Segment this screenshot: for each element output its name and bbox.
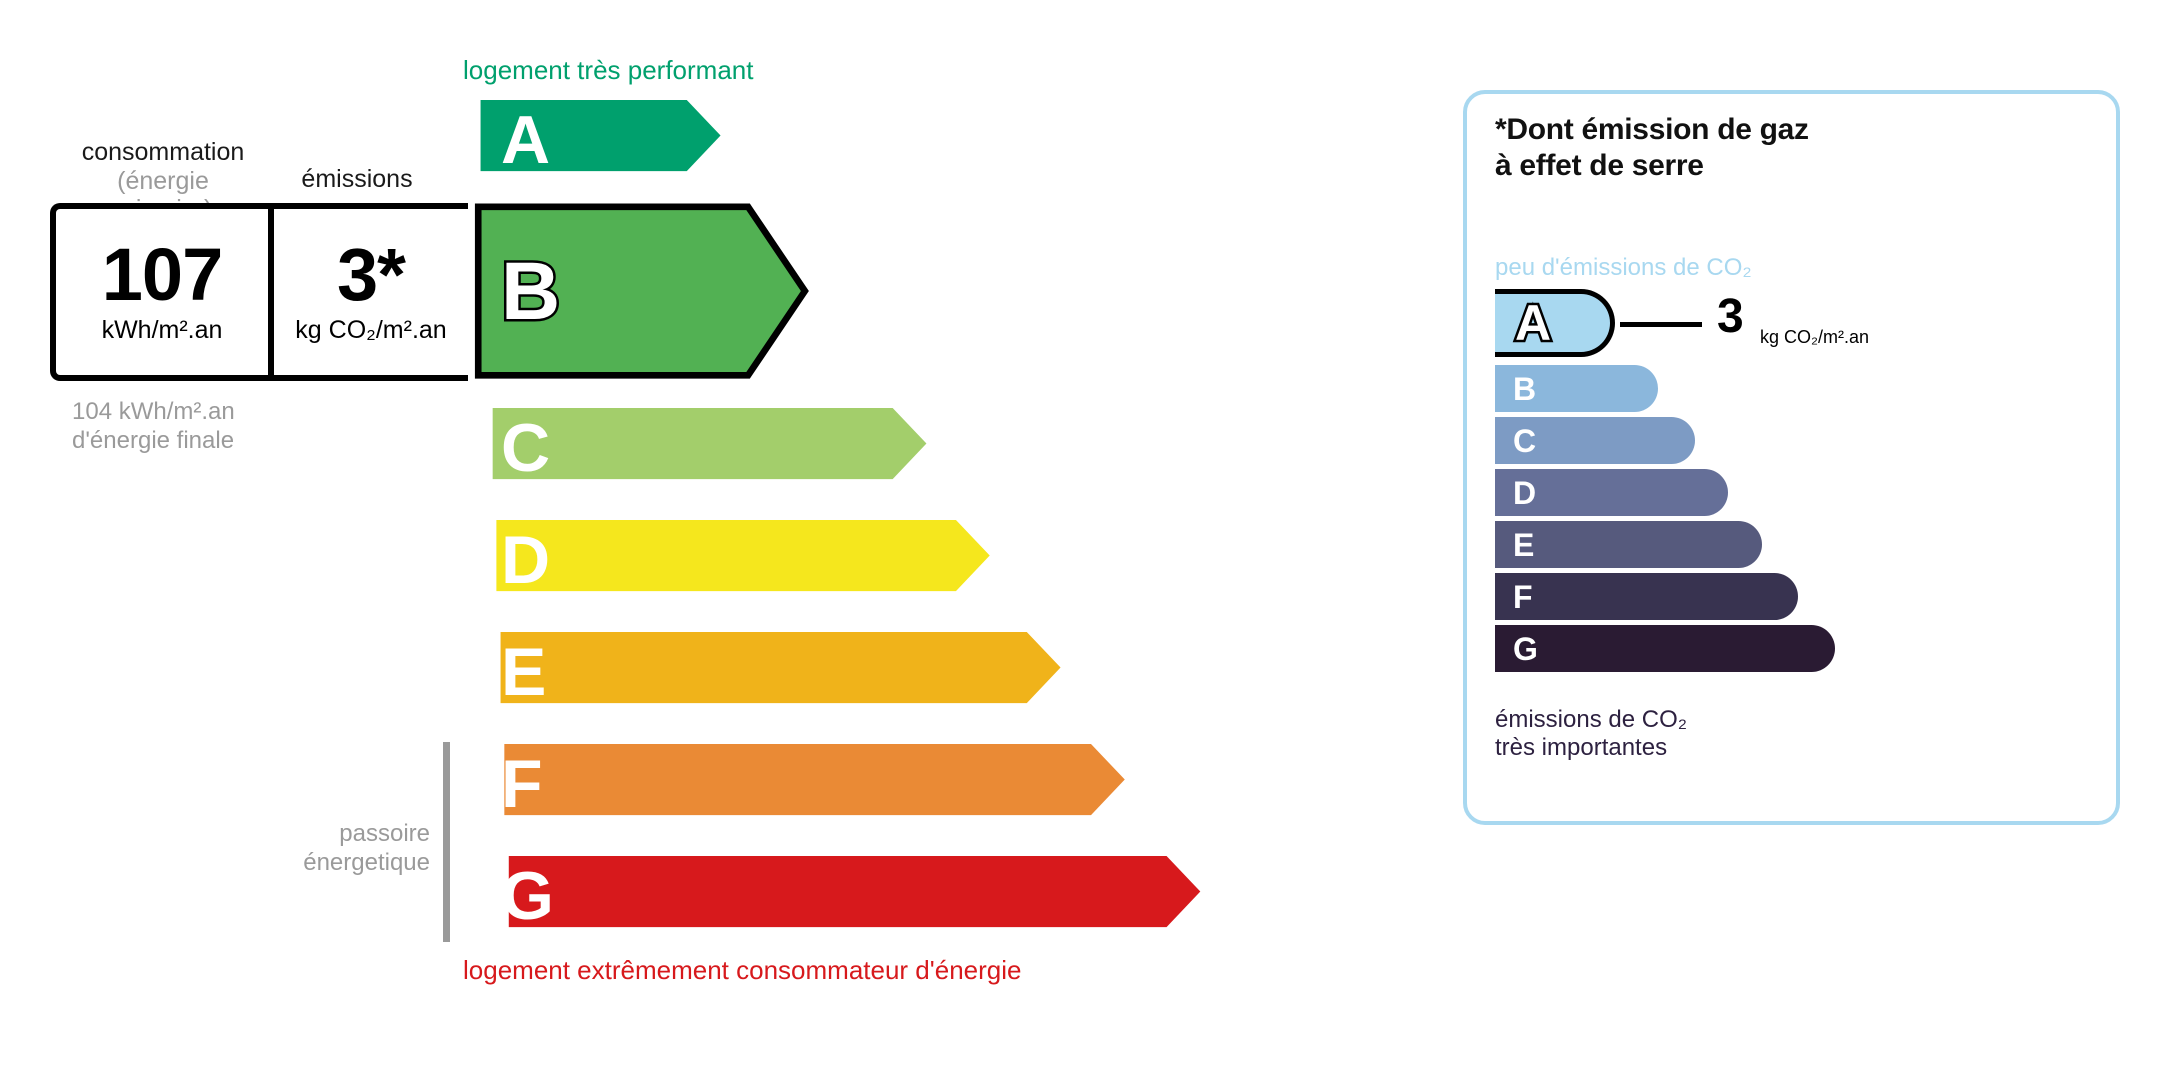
consumption-unit: kWh/m².an	[102, 316, 223, 345]
co2-bar-c: C	[1495, 417, 2095, 464]
emissions-value: 3*	[337, 239, 405, 310]
co2-bar-f: F	[1495, 573, 2095, 620]
passoire-label-line1: passoire	[250, 820, 430, 849]
co2-bar-g: G	[1495, 625, 2095, 672]
emissions-value-cell: 3* kg CO₂/m².an	[268, 209, 468, 375]
energy-bar-c: C	[465, 408, 953, 488]
co2-subtitle: peu d'émissions de CO₂	[1495, 254, 1752, 282]
co2-bar-letter-e: E	[1513, 529, 1534, 561]
co2-value: 3	[1717, 293, 1744, 341]
co2-bar-a: A3kg CO₂/m².an	[1495, 289, 2095, 357]
consumption-value: 107	[102, 239, 222, 310]
co2-footer-line1: émissions de CO₂	[1495, 706, 1687, 734]
co2-bar-e: E	[1495, 521, 2095, 568]
co2-leader-line	[1620, 322, 1702, 327]
co2-class-bars: A3kg CO₂/m².anBCDEFG	[1495, 289, 2095, 677]
consumption-header-title: consommation	[68, 138, 258, 167]
energy-bar-g: G	[465, 856, 1243, 936]
emissions-header: émissions	[292, 165, 422, 194]
co2-bar-shape-g	[1495, 625, 1835, 672]
final-energy-note: 104 kWh/m².an d'énergie finale	[72, 398, 235, 456]
energy-bar-letter-d: D	[501, 526, 550, 594]
co2-bar-letter-a: A	[1515, 298, 1551, 348]
consumption-value-cell: 107 kWh/m².an	[56, 209, 268, 375]
energy-bar-letter-e: E	[501, 638, 546, 706]
co2-bar-letter-f: F	[1513, 581, 1533, 613]
energy-bar-e: E	[465, 632, 1095, 712]
dpe-energy-panel: consommation (énergie primaire) émission…	[0, 0, 1380, 1079]
co2-footer-line2: très importantes	[1495, 734, 1687, 762]
energy-bar-b: B	[465, 203, 810, 381]
co2-panel-title: *Dont émission de gaz à effet de serre	[1495, 112, 1809, 184]
energy-bar-shape-e	[465, 632, 1105, 712]
value-box: 107 kWh/m².an 3* kg CO₂/m².an	[50, 203, 468, 381]
co2-bar-letter-d: D	[1513, 477, 1536, 509]
co2-bar-d: D	[1495, 469, 2095, 516]
energy-bar-letter-f: F	[501, 750, 543, 818]
energy-bar-letter-a: A	[501, 106, 550, 174]
passoire-bracket	[443, 742, 450, 942]
emissions-unit: kg CO₂/m².an	[295, 316, 446, 345]
co2-title-line2: à effet de serre	[1495, 148, 1809, 184]
co2-bar-letter-g: G	[1513, 633, 1538, 665]
energy-bar-d: D	[465, 520, 1020, 600]
final-energy-value: 104 kWh/m².an	[72, 398, 235, 427]
co2-bar-letter-c: C	[1513, 425, 1536, 457]
co2-bar-letter-b: B	[1513, 373, 1536, 405]
passoire-label: passoire énergetique	[250, 820, 430, 878]
banner-bottom-label: logement extrêmement consommateur d'éner…	[463, 955, 1021, 986]
co2-panel: *Dont émission de gaz à effet de serre p…	[1463, 90, 2120, 825]
energy-bar-f: F	[465, 744, 1163, 824]
banner-top-label: logement très performant	[463, 55, 753, 86]
co2-value-unit: kg CO₂/m².an	[1760, 327, 1869, 348]
co2-bar-b: B	[1495, 365, 2095, 412]
energy-bar-letter-c: C	[501, 414, 550, 482]
passoire-label-line2: énergetique	[250, 849, 430, 878]
energy-bar-shape-f	[465, 744, 1173, 824]
co2-footer: émissions de CO₂ très importantes	[1495, 706, 1687, 763]
energy-bar-shape-g	[465, 856, 1253, 936]
co2-title-line1: *Dont émission de gaz	[1495, 112, 1809, 148]
co2-bar-shape-a	[1495, 289, 1615, 357]
energy-bar-letter-b: B	[501, 251, 560, 333]
co2-bar-shape-e	[1495, 521, 1762, 568]
final-energy-label: d'énergie finale	[72, 427, 235, 456]
energy-bar-a: A	[465, 100, 735, 180]
energy-bar-letter-g: G	[501, 862, 554, 930]
co2-bar-shape-f	[1495, 573, 1798, 620]
